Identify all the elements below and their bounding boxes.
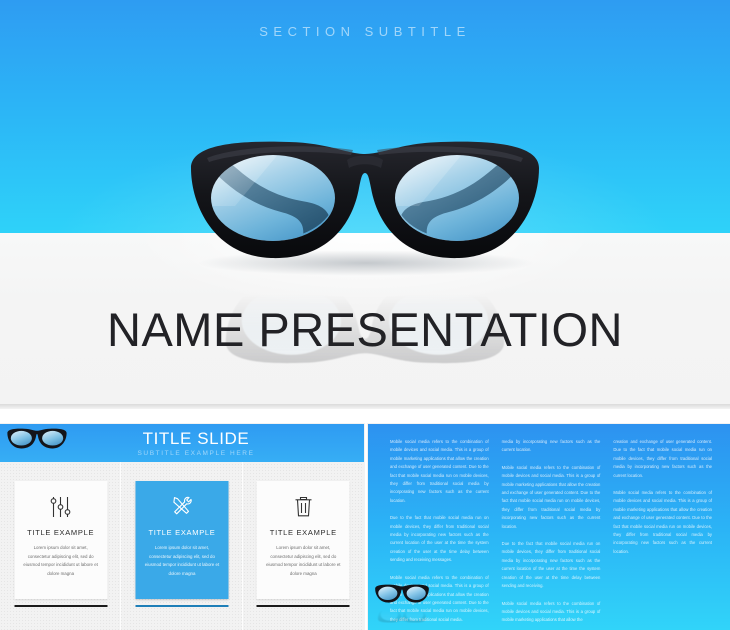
text-column-group: Mobile social media refers to the combin…	[390, 438, 712, 620]
paragraph: Mobile social media refers to the combin…	[502, 600, 601, 625]
section-subtitle: SECTION SUBTITLE	[0, 24, 730, 39]
card-body: Lorem ipsum dolor sit amet, consectetur …	[265, 544, 341, 578]
card-tools[interactable]: TITLE EXAMPLE Lorem ipsum dolor sit amet…	[135, 481, 228, 599]
tools-icon	[169, 493, 195, 521]
paragraph: Mobile social media refers to the combin…	[390, 438, 489, 505]
text-column-2: media by incorporating new factors such …	[502, 438, 601, 620]
text-column-3: creation and exchange of user generated …	[613, 438, 712, 620]
sliders-icon	[48, 493, 74, 521]
thumbnail-subtitle: SUBTITLE EXAMPLE HERE	[0, 450, 364, 457]
card-row: TITLE EXAMPLE Lorem ipsum dolor sit amet…	[0, 462, 364, 630]
card-underline	[257, 605, 350, 607]
card-underline	[14, 605, 107, 607]
card-column-2: TITLE EXAMPLE Lorem ipsum dolor sit amet…	[121, 462, 242, 630]
card-trash[interactable]: TITLE EXAMPLE Lorem ipsum dolor sit amet…	[257, 481, 350, 599]
paragraph: Mobile social media refers to the combin…	[502, 464, 601, 531]
page-title: NAME PRESENTATION	[0, 302, 730, 357]
sunglasses-icon	[373, 584, 431, 604]
title-slide-thumbnail[interactable]: TITLE SLIDE SUBTITLE EXAMPLE HERE	[0, 424, 364, 630]
paragraph: Due to the fact that mobile social media…	[390, 514, 489, 564]
main-slide: SECTION SUBTITLE	[0, 0, 730, 409]
paragraph: media by incorporating new factors such …	[502, 438, 601, 455]
paragraph: Due to the fact that mobile social media…	[502, 540, 601, 590]
paragraph: Mobile social media refers to the combin…	[613, 489, 712, 556]
thumbnail-title: TITLE SLIDE	[0, 429, 364, 449]
card-body: Lorem ipsum dolor sit amet, consectetur …	[144, 544, 220, 578]
card-title: TITLE EXAMPLE	[148, 528, 215, 537]
trash-icon	[290, 493, 316, 521]
sunglasses-illustration	[177, 140, 553, 265]
card-underline	[135, 605, 228, 607]
card-title: TITLE EXAMPLE	[270, 528, 337, 537]
paragraph: creation and exchange of user generated …	[613, 438, 712, 480]
card-title: TITLE EXAMPLE	[27, 528, 94, 537]
card-column-1: TITLE EXAMPLE Lorem ipsum dolor sit amet…	[0, 462, 121, 630]
thumbnail-strip: TITLE SLIDE SUBTITLE EXAMPLE HERE	[0, 409, 730, 630]
text-slide-thumbnail[interactable]: Mobile social media refers to the combin…	[368, 424, 730, 630]
card-body: Lorem ipsum dolor sit amet, consectetur …	[23, 544, 99, 578]
card-sliders[interactable]: TITLE EXAMPLE Lorem ipsum dolor sit amet…	[14, 481, 107, 599]
card-column-3: TITLE EXAMPLE Lorem ipsum dolor sit amet…	[243, 462, 364, 630]
sunglasses-reflection	[376, 605, 428, 623]
